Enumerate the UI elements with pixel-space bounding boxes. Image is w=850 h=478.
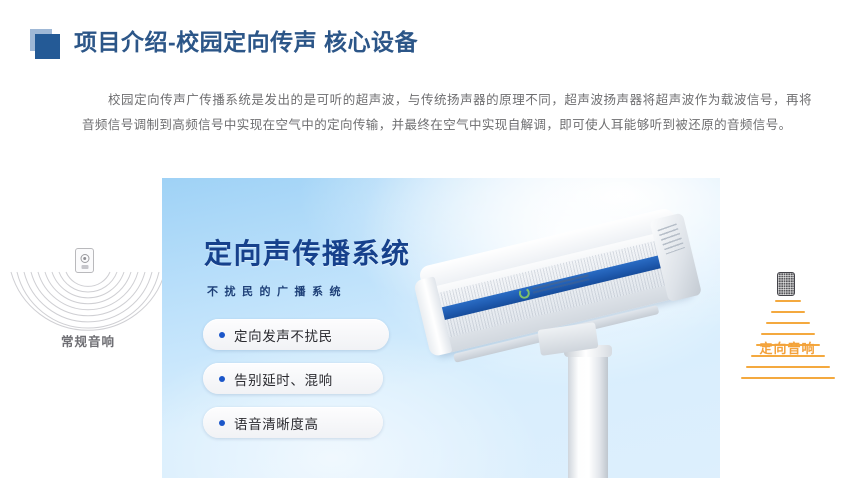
speaker-vents [657, 223, 685, 254]
directional-audio-label: 定向音响 [730, 338, 845, 357]
panel-subtitle: 不扰民的广播系统 [207, 283, 347, 299]
speaker-mounting-pole [568, 350, 608, 478]
slide-title-row: 项目介绍-校园定向传声 核心设备 [0, 22, 850, 66]
list-item: 定向发声不扰民 [203, 319, 389, 350]
bullet-dot-icon [219, 376, 225, 382]
feature-label: 语音清晰度高 [234, 413, 319, 433]
product-image-panel: 定向声传播系统 不扰民的广播系统 定向发声不扰民 告别延时、混响 语音清晰度高 [162, 178, 720, 478]
conventional-audio-illustration: 常规音响 [8, 248, 168, 363]
speaker-cone-inner [83, 257, 87, 261]
logo-ring-icon [518, 286, 531, 299]
feature-label: 定向发声不扰民 [234, 325, 333, 345]
directional-audio-illustration: 定向音响 [730, 272, 845, 382]
feature-pill-list: 定向发声不扰民 告别延时、混响 语音清晰度高 [203, 319, 423, 451]
directional-speaker-array-photo [417, 198, 717, 478]
panel-title: 定向声传播系统 [204, 232, 411, 272]
list-item: 语音清晰度高 [203, 407, 383, 438]
list-item: 告别延时、混响 [203, 363, 383, 394]
speaker-sub-cone [81, 265, 88, 269]
page-title: 项目介绍-校园定向传声 核心设备 [74, 22, 418, 62]
bullet-dot-icon [219, 420, 225, 426]
body-paragraph: 校园定向传声广传播系统是发出的是可听的超声波，与传统扬声器的原理不同，超声波扬声… [82, 88, 812, 138]
conventional-audio-label: 常规音响 [8, 331, 168, 350]
feature-label: 告别延时、混响 [234, 369, 333, 389]
directional-speaker-icon [777, 272, 795, 296]
title-marker-front-square [35, 34, 60, 59]
title-square-marker [30, 29, 60, 59]
bullet-dot-icon [219, 332, 225, 338]
